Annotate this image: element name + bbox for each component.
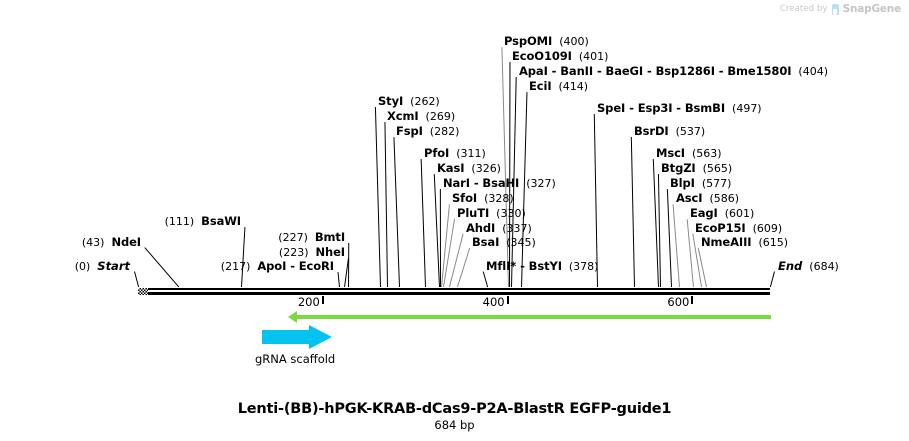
enzyme-position: (223) [279,246,316,259]
enzyme-position: (326) [464,162,501,175]
grna-arrow-head-icon [309,325,332,349]
enzyme-position: (345) [499,236,536,249]
enzyme-position: (565) [696,162,733,175]
enzyme-leader-line [687,219,694,287]
enzyme-label[interactable]: (223) NheI [279,246,345,259]
enzyme-position: (404) [791,65,828,78]
enzyme-leader-line [457,248,470,287]
ruler-tick [691,296,693,304]
enzyme-label[interactable]: FspI (282) [396,125,459,138]
enzyme-name-separator: - [516,259,528,273]
enzyme-name-separator: - [643,64,655,78]
enzyme-position: (609) [746,222,783,235]
enzyme-position: (337) [495,222,532,235]
enzyme-leader-line [421,159,426,287]
enzyme-position: (563) [685,147,722,160]
enzyme-label[interactable]: SpeI - Esp3I - BsmBI (497) [597,102,762,115]
enzyme-name[interactable]: Esp3I [638,101,673,115]
enzyme-name[interactable]: BsaHI [482,176,519,190]
enzyme-label[interactable]: EcoP15I (609) [695,222,782,235]
enzyme-leader-line [241,227,245,287]
enzyme-position: (414) [552,80,589,93]
enzyme-leader-line [440,189,441,287]
enzyme-leader-line [337,272,339,287]
enzyme-leader-line [667,189,672,287]
enzyme-position: (311) [449,147,486,160]
enzyme-label[interactable]: NmeAIII (615) [701,236,788,249]
enzyme-position: (227) [278,231,315,244]
enzyme-position: (577) [695,177,732,190]
enzyme-label[interactable]: (111) BsaWI [165,215,241,228]
grna-arrow-shaft [262,330,310,344]
enzyme-position: (43) [82,236,112,249]
enzyme-position: (615) [751,236,788,249]
enzyme-label[interactable]: BsaI (345) [472,236,536,249]
terminus-label-start[interactable]: (0) Start [75,260,130,273]
enzyme-name-separator: - [715,64,727,78]
enzyme-leader-line [375,107,381,287]
terminus-name: Start [97,259,130,273]
sequence-backbone[interactable] [138,288,770,295]
enzyme-name[interactable]: EagI [690,206,718,220]
enzyme-name[interactable]: EcoP15I [695,221,746,235]
enzyme-leader-line [501,47,509,287]
enzyme-position: (328) [477,192,514,205]
enzyme-name[interactable]: BsmBI [685,101,725,115]
enzyme-name[interactable]: PfoI [424,146,449,160]
enzyme-name[interactable]: Bsp1286I [656,64,715,78]
enzyme-position: (400) [552,35,589,48]
backbone-top-strand [138,288,770,290]
enzyme-leader-line [144,248,178,288]
enzyme-leader-line [348,243,349,287]
enzyme-label[interactable]: SfoI (328) [452,192,514,205]
enzyme-name[interactable]: MflI* [486,259,516,273]
plasmid-length: 684 bp [0,418,909,433]
enzyme-name[interactable]: EcoRI [299,259,334,273]
enzyme-name[interactable]: XcmI [387,109,419,123]
enzyme-position: (401) [572,50,609,63]
enzyme-position: (262) [403,95,440,108]
enzyme-name[interactable]: EcoO109I [512,49,572,63]
enzyme-position: (586) [702,192,739,205]
enzyme-name[interactable]: PspOMI [504,34,552,48]
enzyme-label[interactable]: EcoO109I (401) [512,50,608,63]
enzyme-name[interactable]: SpeI [597,101,625,115]
enzyme-label[interactable]: (227) BmtI [278,231,345,244]
enzyme-name[interactable]: StyI [378,94,403,108]
ruler-tick-label: 200 [298,296,322,308]
enzyme-leader-line [509,62,510,287]
enzyme-name[interactable]: ApaI [519,64,548,78]
enzyme-name[interactable]: PluTI [457,206,489,220]
enzyme-name[interactable]: BmtI [315,230,345,244]
enzyme-leader-line [770,272,775,287]
grna-scaffold-label: gRNA scaffold [255,352,335,366]
enzyme-name[interactable]: BsaI [472,235,499,249]
title-block: Lenti-(BB)-hPGK-KRAB-dCas9-P2A-BlastR EG… [0,400,909,433]
enzyme-name-separator: - [548,64,560,78]
enzyme-label[interactable]: BsrDI (537) [634,125,705,138]
enzyme-name[interactable]: BsrDI [634,124,669,138]
gene-track-line[interactable] [295,315,771,319]
terminus-label-end[interactable]: End (684) [778,260,839,273]
ruler-tick-label: 400 [483,296,507,308]
enzyme-label[interactable]: BlpI (577) [670,177,731,190]
enzyme-position: (497) [725,102,762,115]
enzyme-label[interactable]: AhdI (337) [466,222,532,235]
enzyme-name[interactable]: BanII [560,64,593,78]
terminus-position: (0) [75,260,98,273]
enzyme-label[interactable]: StyI (262) [378,95,440,108]
enzyme-name[interactable]: MscI [656,146,685,160]
plasmid-linear-map: (43) NdeI(111) BsaWI(217) ApoI - EcoRI(2… [0,0,909,441]
enzyme-leader-line [631,137,635,287]
enzyme-label[interactable]: ApaI - BanII - BaeGI - Bsp1286I - Bme158… [519,65,828,78]
enzyme-label[interactable]: (217) ApoI - EcoRI [221,260,334,273]
enzyme-name-separator: - [593,64,605,78]
enzyme-position: (601) [718,207,755,220]
enzyme-name[interactable]: AhdI [466,221,495,235]
enzyme-label[interactable]: AscI (586) [676,192,739,205]
enzyme-name[interactable]: Bme1580I [727,64,791,78]
enzyme-position: (330) [489,207,526,220]
enzyme-name[interactable]: BaeGI [606,64,644,78]
enzyme-label[interactable]: (43) NdeI [82,236,141,249]
enzyme-name[interactable]: BsaWI [201,214,241,228]
enzyme-label[interactable]: MscI (563) [656,147,722,160]
enzyme-name[interactable]: NarI [443,176,470,190]
enzyme-name[interactable]: ApoI [257,259,286,273]
enzyme-leader-line [483,272,488,287]
enzyme-name-separator: - [625,101,637,115]
enzyme-label[interactable]: KasI (326) [437,162,501,175]
enzyme-label[interactable]: BtgZI (565) [661,162,732,175]
enzyme-label[interactable]: MflI* - BstYI (378) [486,260,598,273]
enzyme-name[interactable]: AscI [676,191,702,205]
enzyme-leader-line [384,122,388,287]
enzyme-label[interactable]: EagI (601) [690,207,754,220]
ruler-tick [507,296,509,304]
enzyme-label[interactable]: PluTI (330) [457,207,526,220]
backbone-start-cap-icon [138,288,148,295]
enzyme-position: (327) [519,177,556,190]
enzyme-leader-line [449,234,464,287]
enzyme-label[interactable]: PfoI (311) [424,147,486,160]
terminus-position: (684) [802,260,839,273]
enzyme-label[interactable]: NarI - BsaHI (327) [443,177,556,190]
enzyme-position: (282) [423,125,460,138]
enzyme-leader-line [658,174,661,287]
enzyme-name[interactable]: KasI [437,161,464,175]
terminus-name: End [778,259,802,273]
enzyme-label[interactable]: XcmI (269) [387,110,455,123]
enzyme-position: (378) [562,260,599,273]
enzyme-name[interactable]: BlpI [670,176,695,190]
enzyme-label[interactable]: EciI (414) [529,80,588,93]
enzyme-name-separator: - [286,259,298,273]
enzyme-name[interactable]: NdeI [111,235,141,249]
enzyme-name[interactable]: BstYI [529,259,562,273]
enzyme-position: (111) [165,215,202,228]
enzyme-name[interactable]: SfoI [452,191,477,205]
enzyme-leader-line [393,137,400,287]
enzyme-leader-line [134,272,139,287]
ruler-tick [322,296,324,304]
enzyme-name[interactable]: BtgZI [661,161,696,175]
enzyme-position: (537) [669,125,706,138]
enzyme-name[interactable]: NheI [316,245,346,259]
enzyme-name-separator: - [470,176,482,190]
enzyme-label[interactable]: PspOMI (400) [504,35,589,48]
ruler-tick-label: 600 [667,296,691,308]
enzyme-leader-line [673,204,680,287]
plasmid-title: Lenti-(BB)-hPGK-KRAB-dCas9-P2A-BlastR EG… [0,400,909,418]
grna-scaffold-arrow[interactable] [262,325,332,349]
enzyme-name[interactable]: NmeAIII [701,235,751,249]
enzyme-position: (217) [221,260,258,273]
enzyme-name-separator: - [672,101,684,115]
enzyme-name[interactable]: FspI [396,124,423,138]
enzyme-position: (269) [419,110,456,123]
enzyme-name[interactable]: EciI [529,79,552,93]
